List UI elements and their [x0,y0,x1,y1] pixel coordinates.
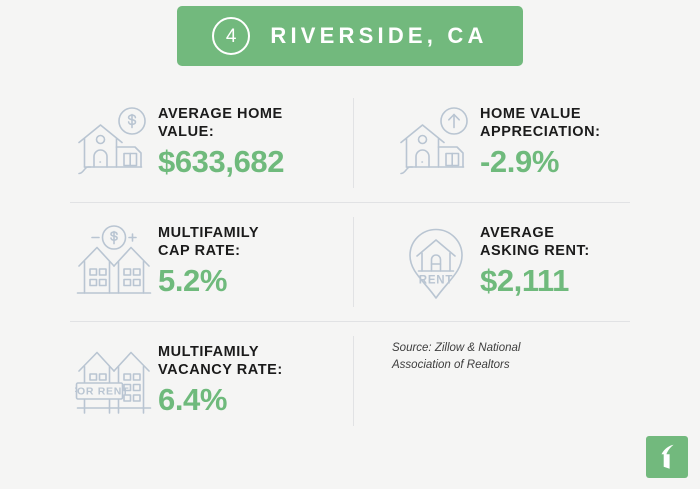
source-note: Source: Zillow & National Association of… [392,340,567,375]
vertical-divider [353,336,354,426]
brand-logo-badge[interactable] [646,436,688,478]
map-pin-rent-house-icon: RENT [392,223,480,301]
for-rent-sign-label: FOR RENT [75,386,129,398]
stat-text-group: AVERAGE HOME VALUE: $633,682 [158,106,284,179]
stat-card-average-home-value: AVERAGE HOME VALUE: $633,682 [70,84,350,202]
stat-label: HOME VALUE APPRECIATION: [480,106,600,141]
stat-card-multifamily-cap-rate: MULTIFAMILY CAP RATE: 5.2% [70,203,350,321]
vertical-divider [353,98,354,188]
stat-value: 5.2% [158,264,259,299]
multifamily-with-dollar-cap-rate-icon [70,224,158,300]
source-note-container: Source: Zillow & National Association of… [350,322,630,440]
stat-label: MULTIFAMILY CAP RATE: [158,225,259,260]
stats-row: FOR RENT MULTIFAMILY VACANCY RATE: 6.4% … [70,321,630,440]
house-with-up-arrow-circle-icon [392,106,480,180]
rank-number: 4 [226,27,237,46]
stat-value: -2.9% [480,145,600,180]
stat-text-group: HOME VALUE APPRECIATION: -2.9% [480,106,600,179]
stat-card-average-asking-rent: RENT AVERAGE ASKING RENT: $2,111 [350,203,630,321]
multifamily-for-rent-sign-icon: FOR RENT [70,345,158,417]
stat-label: MULTIFAMILY VACANCY RATE: [158,344,283,379]
stats-row: AVERAGE HOME VALUE: $633,682 [70,84,630,202]
rent-pin-label: RENT [419,275,454,287]
stats-row: MULTIFAMILY CAP RATE: 5.2% RENT AVERAGE … [70,202,630,321]
stat-text-group: MULTIFAMILY CAP RATE: 5.2% [158,225,259,298]
stat-value: 6.4% [158,383,283,418]
city-header-banner: 4 RIVERSIDE, CA [177,6,523,66]
city-title: RIVERSIDE, CA [270,23,487,49]
stat-label: AVERAGE ASKING RENT: [480,225,590,260]
rank-circle: 4 [212,17,250,55]
stats-grid: AVERAGE HOME VALUE: $633,682 [70,84,630,440]
stat-label: AVERAGE HOME VALUE: [158,106,284,141]
stat-text-group: MULTIFAMILY VACANCY RATE: 6.4% [158,344,283,417]
stat-card-multifamily-vacancy-rate: FOR RENT MULTIFAMILY VACANCY RATE: 6.4% [70,322,350,440]
stat-card-home-value-appreciation: HOME VALUE APPRECIATION: -2.9% [350,84,630,202]
stat-value: $2,111 [480,264,590,299]
stat-value: $633,682 [158,145,284,180]
house-with-dollar-circle-icon [70,106,158,180]
vertical-divider [353,217,354,307]
stat-text-group: AVERAGE ASKING RENT: $2,111 [480,225,590,298]
brand-logo-icon [655,444,679,470]
